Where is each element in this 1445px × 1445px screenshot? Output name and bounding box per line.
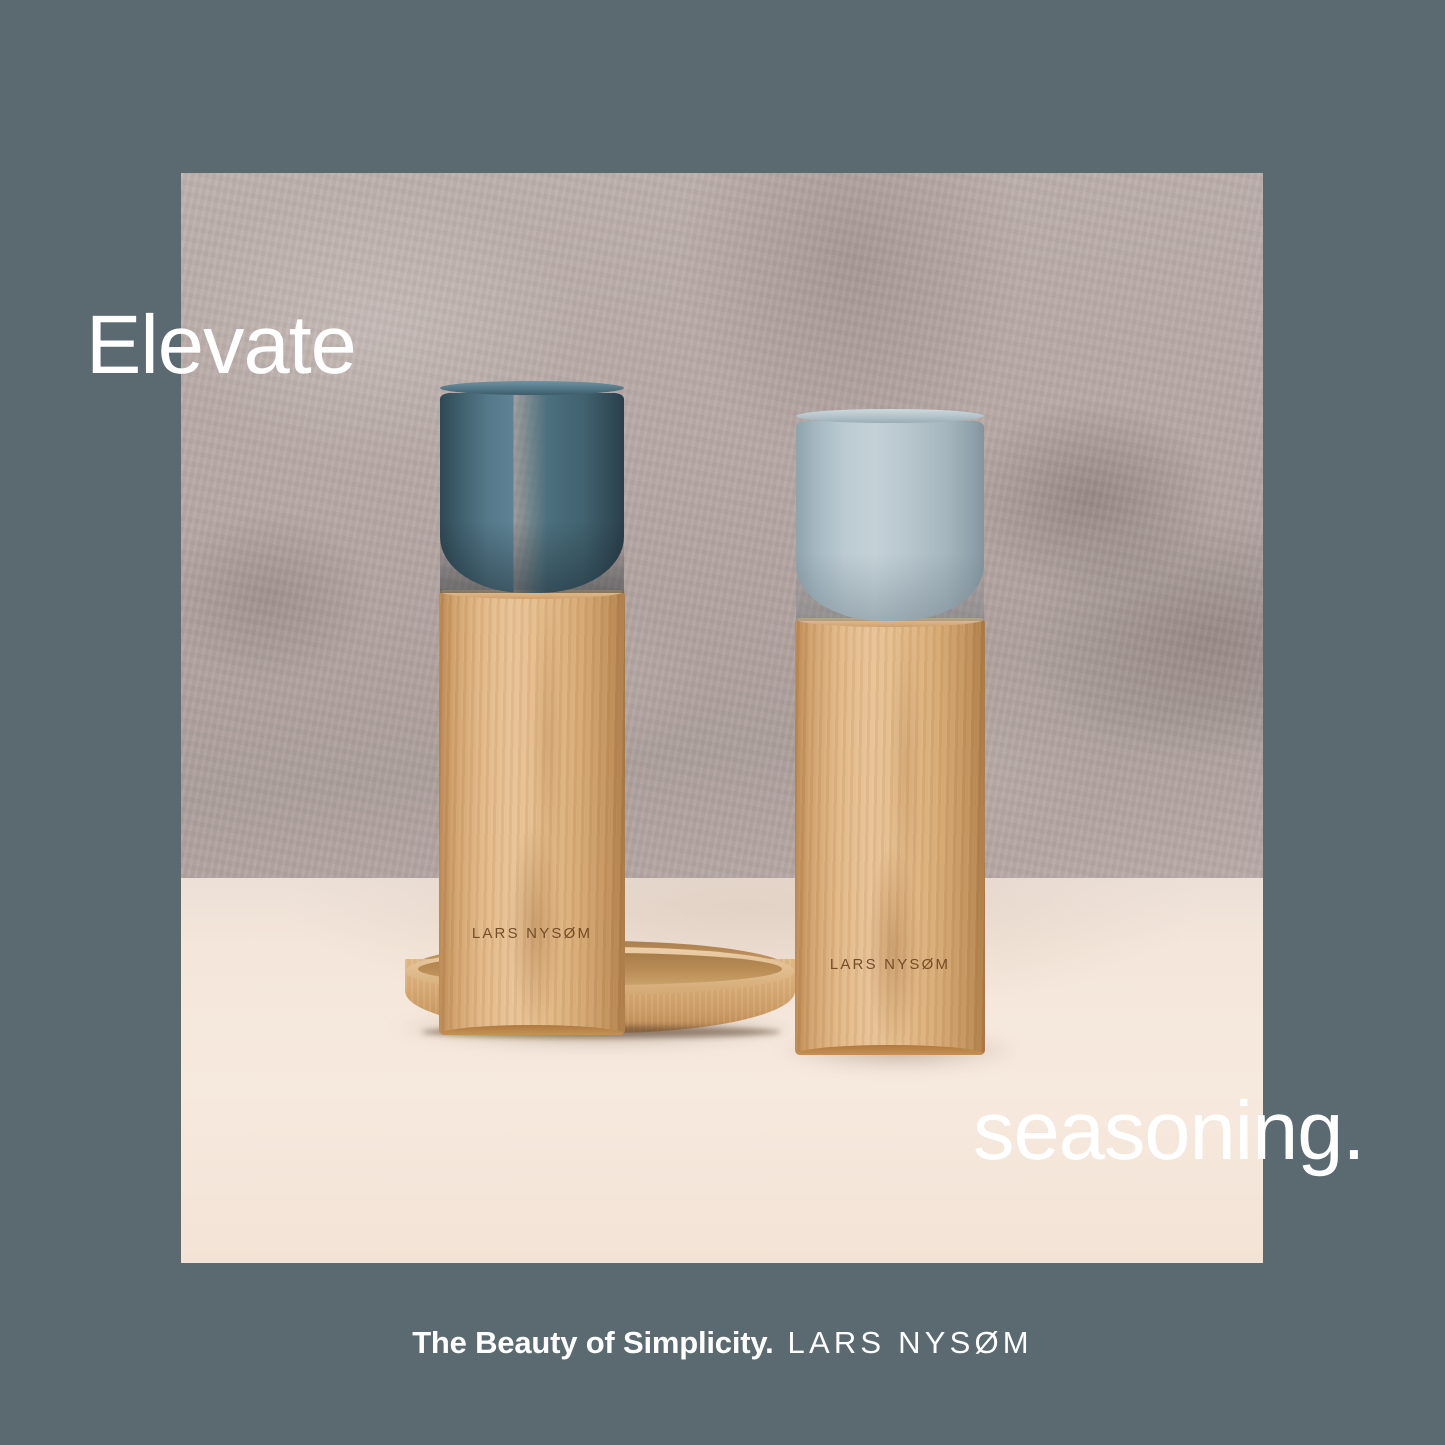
grinder-body-bottom-edge-right [795,1045,985,1055]
cap-lip-light [796,409,984,423]
grinder-body-bottom-edge-left [439,1025,625,1035]
grinder-cap-light-blue [796,421,984,621]
table-surface [181,878,1263,1263]
footer-tagline: The Beauty of Simplicity. [412,1325,773,1361]
cap-shade-light [796,553,984,621]
pepper-grinder-dark: LARS NYSØM [439,590,625,1035]
grinder-body-wood-right [795,618,985,1055]
background-wall [181,173,1263,879]
headline-line-bottom: seasoning. [973,1089,1364,1172]
grinder-cap-lip-dark [440,387,624,403]
salt-grinder-light: LARS NYSØM [795,618,985,1055]
cap-shade-dark [440,521,624,593]
grinder-cap-lip-light [796,415,984,431]
brand-logo: LARS NYSØM [788,1325,1033,1361]
grinder-body-wood-left [439,590,625,1035]
ad-canvas: LARS NYSØM LARS NYSØM Elevate seas [0,0,1445,1445]
grinder-cap-dark-teal [440,393,624,593]
cap-lip-dark [440,381,624,395]
grinder-engraving-left: LARS NYSØM [439,925,625,942]
footer-bar: The Beauty of Simplicity. LARS NYSØM [0,1325,1445,1361]
headline-line-top: Elevate [86,303,356,386]
grinder-engraving-right: LARS NYSØM [795,956,985,973]
